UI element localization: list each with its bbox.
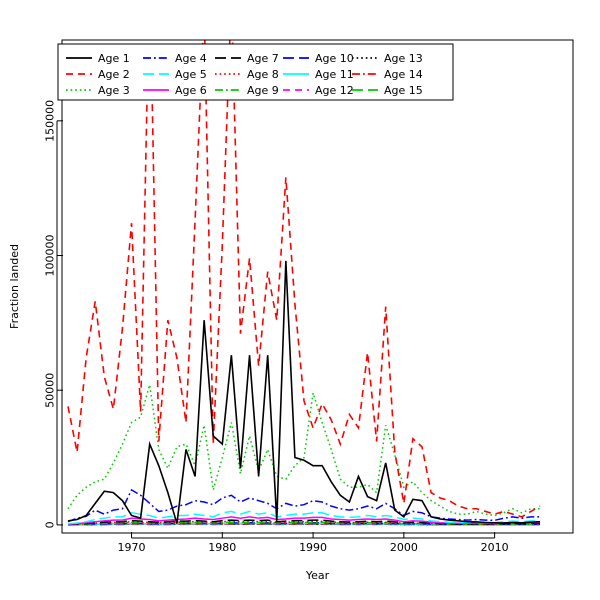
legend-label: Age 9 bbox=[247, 84, 279, 97]
line-chart: 05000010000015000019701980199020002010Ye… bbox=[0, 0, 600, 600]
y-tick-label: 100000 bbox=[44, 235, 57, 277]
legend-label: Age 13 bbox=[384, 52, 423, 65]
chart-legend: Age 1Age 2Age 3Age 4Age 5Age 6Age 7Age 8… bbox=[58, 44, 453, 100]
plot-frame-rect bbox=[62, 40, 573, 533]
y-tick-label: 0 bbox=[44, 521, 57, 528]
series-line-age-3 bbox=[68, 385, 540, 516]
series-line-age-1 bbox=[68, 261, 540, 524]
legend-label: Age 3 bbox=[98, 84, 130, 97]
y-tick-label: 50000 bbox=[44, 373, 57, 408]
y-axis-title: Fraction landed bbox=[8, 244, 21, 329]
x-tick-label: 1980 bbox=[208, 541, 236, 554]
legend-label: Age 4 bbox=[175, 52, 207, 65]
legend-label: Age 8 bbox=[247, 68, 279, 81]
plot-frame bbox=[62, 40, 573, 533]
x-tick-label: 2010 bbox=[481, 541, 509, 554]
legend-label: Age 6 bbox=[175, 84, 207, 97]
y-tick-label: 150000 bbox=[44, 100, 57, 142]
x-tick-label: 2000 bbox=[390, 541, 418, 554]
legend-label: Age 2 bbox=[98, 68, 130, 81]
legend-label: Age 14 bbox=[384, 68, 423, 81]
x-tick-label: 1970 bbox=[118, 541, 146, 554]
axes-layer: 05000010000015000019701980199020002010Ye… bbox=[8, 100, 509, 582]
legend-label: Age 5 bbox=[175, 68, 207, 81]
legend-label: Age 1 bbox=[98, 52, 130, 65]
legend-label: Age 10 bbox=[315, 52, 354, 65]
x-axis-title: Year bbox=[305, 569, 330, 582]
legend-label: Age 11 bbox=[315, 68, 354, 81]
chart-container: 05000010000015000019701980199020002010Ye… bbox=[0, 0, 600, 600]
legend-label: Age 12 bbox=[315, 84, 354, 97]
legend-label: Age 7 bbox=[247, 52, 279, 65]
x-tick-label: 1990 bbox=[299, 541, 327, 554]
legend-label: Age 15 bbox=[384, 84, 423, 97]
